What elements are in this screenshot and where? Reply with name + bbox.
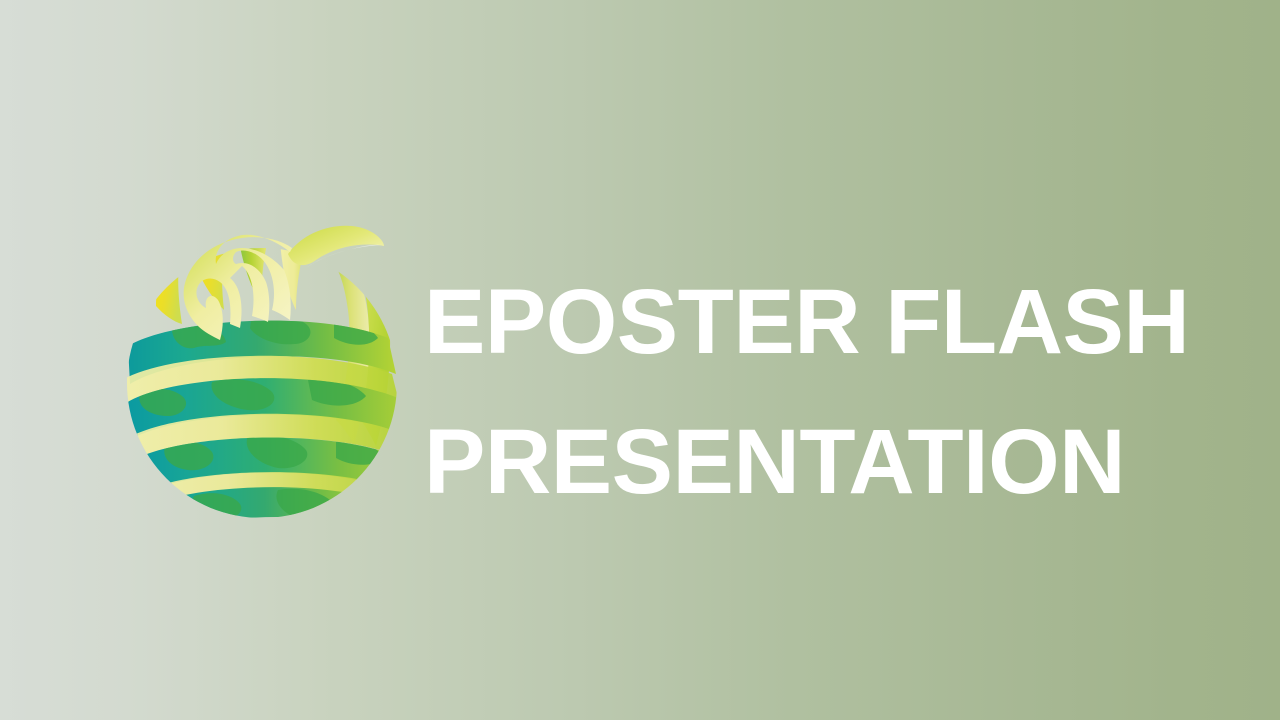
slide-title: EPOSTER FLASH PRESENTATION xyxy=(424,252,1214,532)
title-slide: EPOSTER FLASH PRESENTATION xyxy=(0,0,1280,720)
ribbon-globe-graphic xyxy=(120,198,410,520)
title-line-1: EPOSTER FLASH xyxy=(424,252,1214,392)
band-8 xyxy=(182,519,364,520)
globe-bands xyxy=(122,204,402,520)
ribbon-globe-logo xyxy=(120,198,410,520)
band-tip-yellow-1 xyxy=(156,246,182,324)
title-line-2: PRESENTATION xyxy=(424,392,1214,532)
